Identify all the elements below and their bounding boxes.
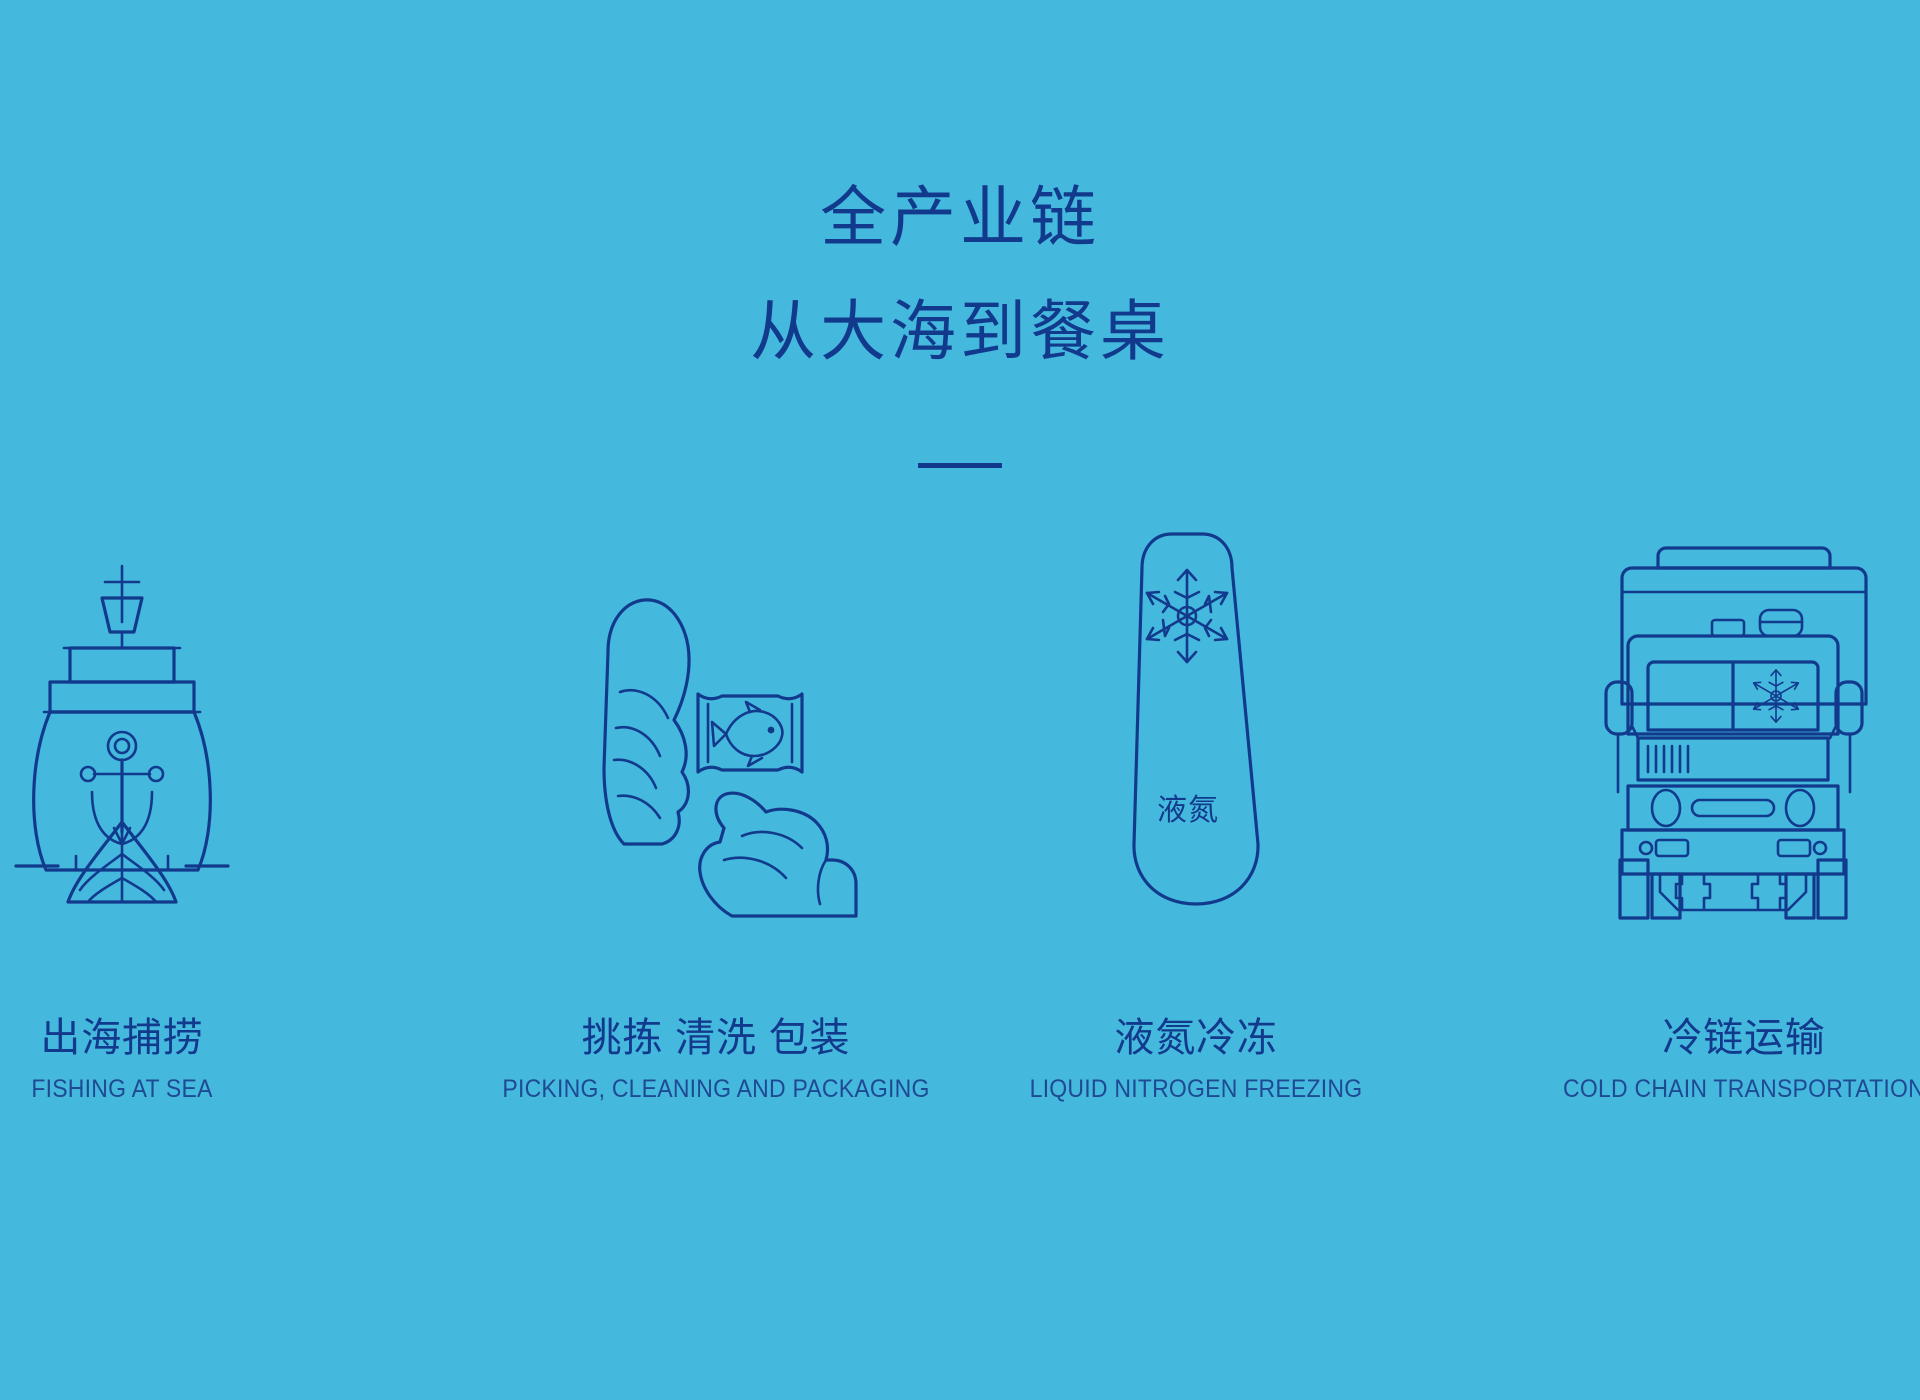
label-cn-picking-cleaning-packaging: 挑拣 清洗 包装	[476, 1015, 956, 1061]
step-picking-cleaning-packaging	[480, 520, 960, 920]
label-cn-fishing-at-sea: 出海捕捞	[0, 1015, 362, 1061]
label-en-cold-chain-transportation: COLD CHAIN TRANSPORTATION	[1523, 1075, 1920, 1104]
label-cn-cold-chain-transportation: 冷链运输	[1504, 1015, 1920, 1061]
label-cold-chain-transportation: 冷链运输 COLD CHAIN TRANSPORTATION	[1440, 1015, 1920, 1104]
label-picking-cleaning-packaging: 挑拣 清洗 包装 PICKING, CLEANING AND PACKAGING	[480, 1015, 960, 1104]
title-divider-wrap	[0, 455, 1920, 473]
refrigerated-truck-icon	[1604, 520, 1884, 920]
page-title: 全产业链 从大海到餐桌	[0, 185, 1920, 365]
tank-label: 液氮	[1157, 793, 1219, 828]
title-divider	[918, 463, 1002, 468]
process-step-labels: 出海捕捞 FISHING AT SEA 挑拣 清洗 包装 PICKING, CL…	[0, 1015, 1920, 1104]
title-line-1: 全产业链	[0, 185, 1920, 251]
label-en-picking-cleaning-packaging: PICKING, CLEANING AND PACKAGING	[495, 1075, 937, 1104]
step-cold-chain-transportation	[1440, 520, 1920, 920]
label-fishing-at-sea: 出海捕捞 FISHING AT SEA	[0, 1015, 480, 1104]
step-fishing-at-sea	[0, 520, 480, 920]
step-liquid-nitrogen-freezing: 液氮	[960, 520, 1440, 920]
label-en-liquid-nitrogen-freezing: LIQUID NITROGEN FREEZING	[975, 1075, 1417, 1104]
label-en-fishing-at-sea: FISHING AT SEA	[0, 1075, 343, 1104]
label-cn-liquid-nitrogen-freezing: 液氮冷冻	[956, 1015, 1436, 1061]
fishing-boat-icon	[2, 520, 242, 920]
title-line-2: 从大海到餐桌	[0, 299, 1920, 365]
liquid-nitrogen-tank-icon: 液氮	[1116, 520, 1276, 920]
process-step-icons: 液氮	[0, 520, 1920, 920]
hands-fish-package-icon	[564, 520, 864, 920]
label-liquid-nitrogen-freezing: 液氮冷冻 LIQUID NITROGEN FREEZING	[960, 1015, 1440, 1104]
poster-canvas: 全产业链 从大海到餐桌	[0, 0, 1920, 1400]
